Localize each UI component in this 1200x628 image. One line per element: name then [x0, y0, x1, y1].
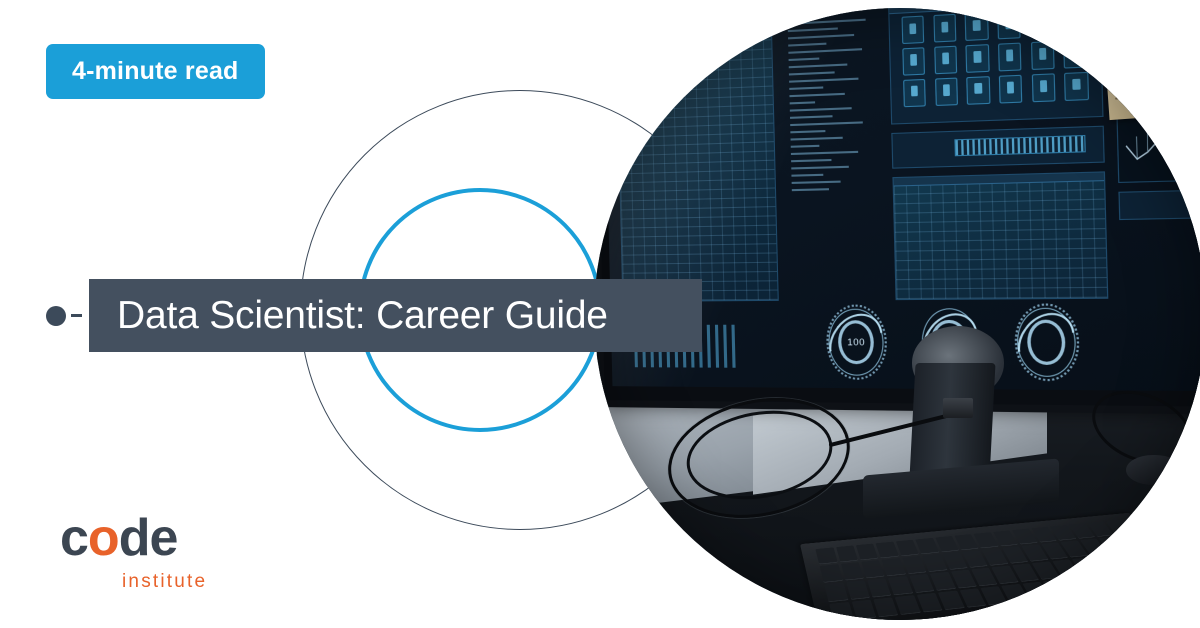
screen-panel-status-strip	[1119, 188, 1200, 219]
gauge-primary: 100	[828, 308, 885, 376]
gauge-value: 100	[847, 337, 865, 347]
poster-canvas: 100	[0, 0, 1200, 628]
gauge-tertiary	[1016, 307, 1077, 377]
read-time-badge: 4-minute read	[46, 44, 265, 99]
chip-grid	[902, 8, 1089, 106]
screen-panel-blueprint-lower	[892, 171, 1108, 301]
read-time-label: 4-minute read	[72, 57, 239, 86]
bullet-dot-icon	[46, 306, 66, 326]
logo-wordmark: c o de	[60, 512, 260, 564]
sticky-note	[1107, 73, 1171, 120]
area-chart	[1115, 8, 1200, 82]
logo-letter-c: c	[60, 512, 88, 564]
brand-logo: c o de institute	[60, 512, 260, 593]
logo-subtitle: institute	[122, 571, 260, 593]
screen-panel-blueprint-left	[615, 11, 779, 302]
screen-panel-readout-strip	[891, 125, 1104, 168]
panel-header-bar	[893, 172, 1104, 186]
page-title-bar: Data Scientist: Career Guide	[89, 279, 702, 352]
readout-bargraph	[954, 135, 1086, 156]
screen-panel-area-chart	[1114, 8, 1200, 83]
bullet-dash-icon	[71, 314, 82, 317]
logo-letter-o: o	[88, 512, 119, 564]
usb-plug	[943, 398, 974, 418]
screen-panel-chip-grid	[888, 8, 1104, 124]
logo-letters-de: de	[119, 512, 178, 564]
peripheral-object	[1126, 455, 1181, 486]
page-title: Data Scientist: Career Guide	[117, 294, 608, 338]
screen-panel-code-log	[784, 8, 883, 301]
panel-header-bar	[616, 12, 771, 29]
code-lines	[788, 18, 879, 290]
